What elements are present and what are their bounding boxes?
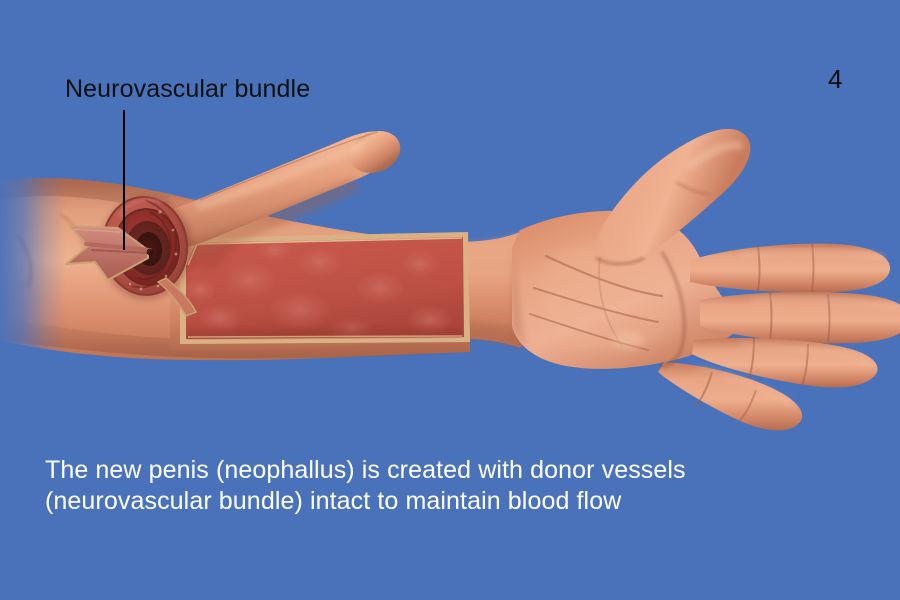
caption-line-1: The new penis (neophallus) is created wi… — [45, 455, 845, 486]
caption-line-2: (neurovascular bundle) intact to maintai… — [45, 486, 845, 517]
arm-edge-fade — [0, 170, 66, 370]
figure-caption: The new penis (neophallus) is created wi… — [45, 455, 845, 517]
illustration-stage: Neurovascular bundle 4 The new penis (ne… — [0, 0, 900, 600]
forearm-donor-site — [180, 232, 470, 344]
page-number: 4 — [828, 64, 842, 95]
neurovascular-bundle-label: Neurovascular bundle — [65, 76, 310, 102]
